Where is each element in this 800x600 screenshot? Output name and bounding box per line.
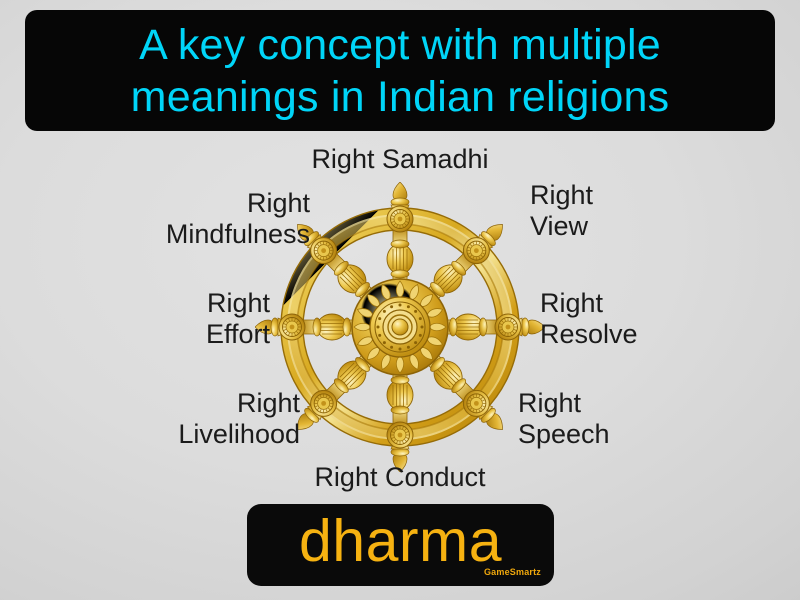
wheel-hub	[352, 279, 448, 375]
term-card: dharma GameSmartz	[247, 504, 554, 586]
label-right-samadhi: Right Samadhi	[275, 144, 525, 175]
definition-banner: A key concept with multiple meanings in …	[25, 10, 775, 131]
label-right-livelihood: Right Livelihood	[55, 388, 300, 450]
definition-line-1: A key concept with multiple	[139, 19, 661, 71]
label-right-mindfulness: Right Mindfulness	[60, 188, 310, 250]
infographic-canvas: A key concept with multiple meanings in …	[0, 0, 800, 600]
watermark-label: GameSmartz	[484, 567, 541, 577]
label-right-resolve: Right Resolve	[540, 288, 775, 350]
label-right-conduct: Right Conduct	[275, 462, 525, 493]
label-right-view: Right View	[530, 180, 770, 242]
label-right-effort: Right Effort	[40, 288, 270, 350]
label-right-speech: Right Speech	[518, 388, 763, 450]
definition-line-2: meanings in Indian religions	[131, 71, 670, 123]
term-label: dharma	[247, 508, 554, 574]
